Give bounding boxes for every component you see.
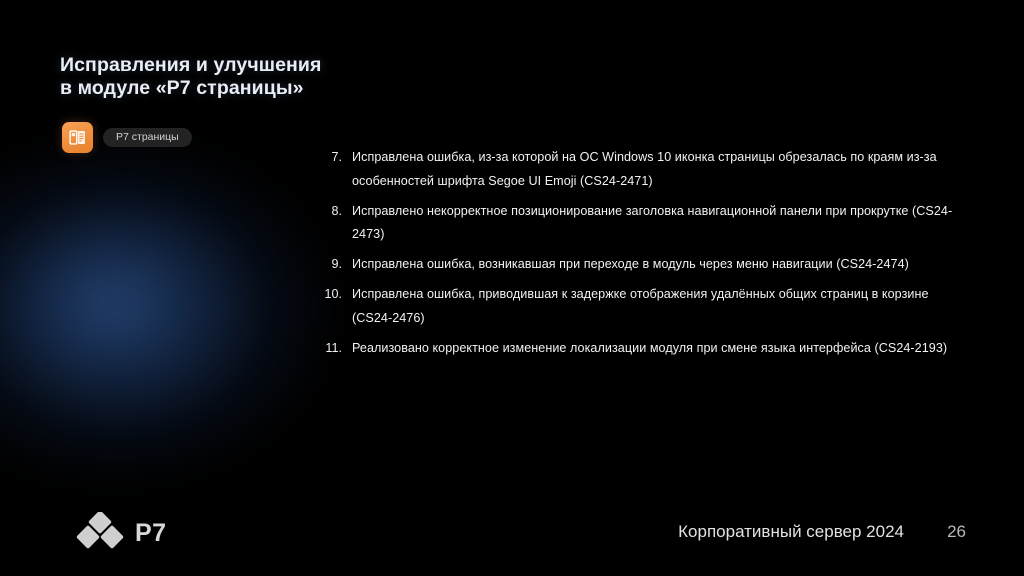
list-item: 8. Исправлено некорректное позиционирова… [313,200,958,247]
footer-title: Корпоративный сервер 2024 [678,522,904,542]
brand-logo-text: P7 [135,521,167,546]
list-item-number: 8. [313,200,352,224]
background-glow [0,145,325,475]
three-diamonds-logo-icon [74,512,126,554]
page-number: 26 [947,522,966,542]
list-item-number: 7. [313,146,352,170]
list-item: 11. Реализовано корректное изменение лок… [313,337,958,361]
list-item-text: Исправлена ошибка, приводившая к задержк… [352,283,958,330]
list-item-text: Реализовано корректное изменение локализ… [352,337,958,361]
module-chip-row: P7 страницы [62,122,192,153]
list-item-text: Исправлена ошибка, возникавшая при перех… [352,253,958,277]
list-item: 7. Исправлена ошибка, из-за которой на О… [313,146,958,193]
list-item-text: Исправлена ошибка, из-за которой на ОС W… [352,146,958,193]
pages-document-icon [62,122,93,153]
slide-title: Исправления и улучшения в модуле «P7 стр… [60,54,490,100]
presentation-slide: Исправления и улучшения в модуле «P7 стр… [0,0,1024,576]
brand-logo: P7 [74,512,167,554]
module-chip-label: P7 страницы [103,128,192,147]
list-item-number: 9. [313,253,352,277]
list-item-number: 11. [313,337,352,361]
background-glow-inner [10,215,240,405]
list-item-text: Исправлено некорректное позиционирование… [352,200,958,247]
slide-title-line-2: в модуле «P7 страницы» [60,77,490,100]
list-item: 10. Исправлена ошибка, приводившая к зад… [313,283,958,330]
list-item: 9. Исправлена ошибка, возникавшая при пе… [313,253,958,277]
slide-title-line-1: Исправления и улучшения [60,54,490,77]
list-item-number: 10. [313,283,352,307]
changelog-list: 7. Исправлена ошибка, из-за которой на О… [313,146,958,367]
